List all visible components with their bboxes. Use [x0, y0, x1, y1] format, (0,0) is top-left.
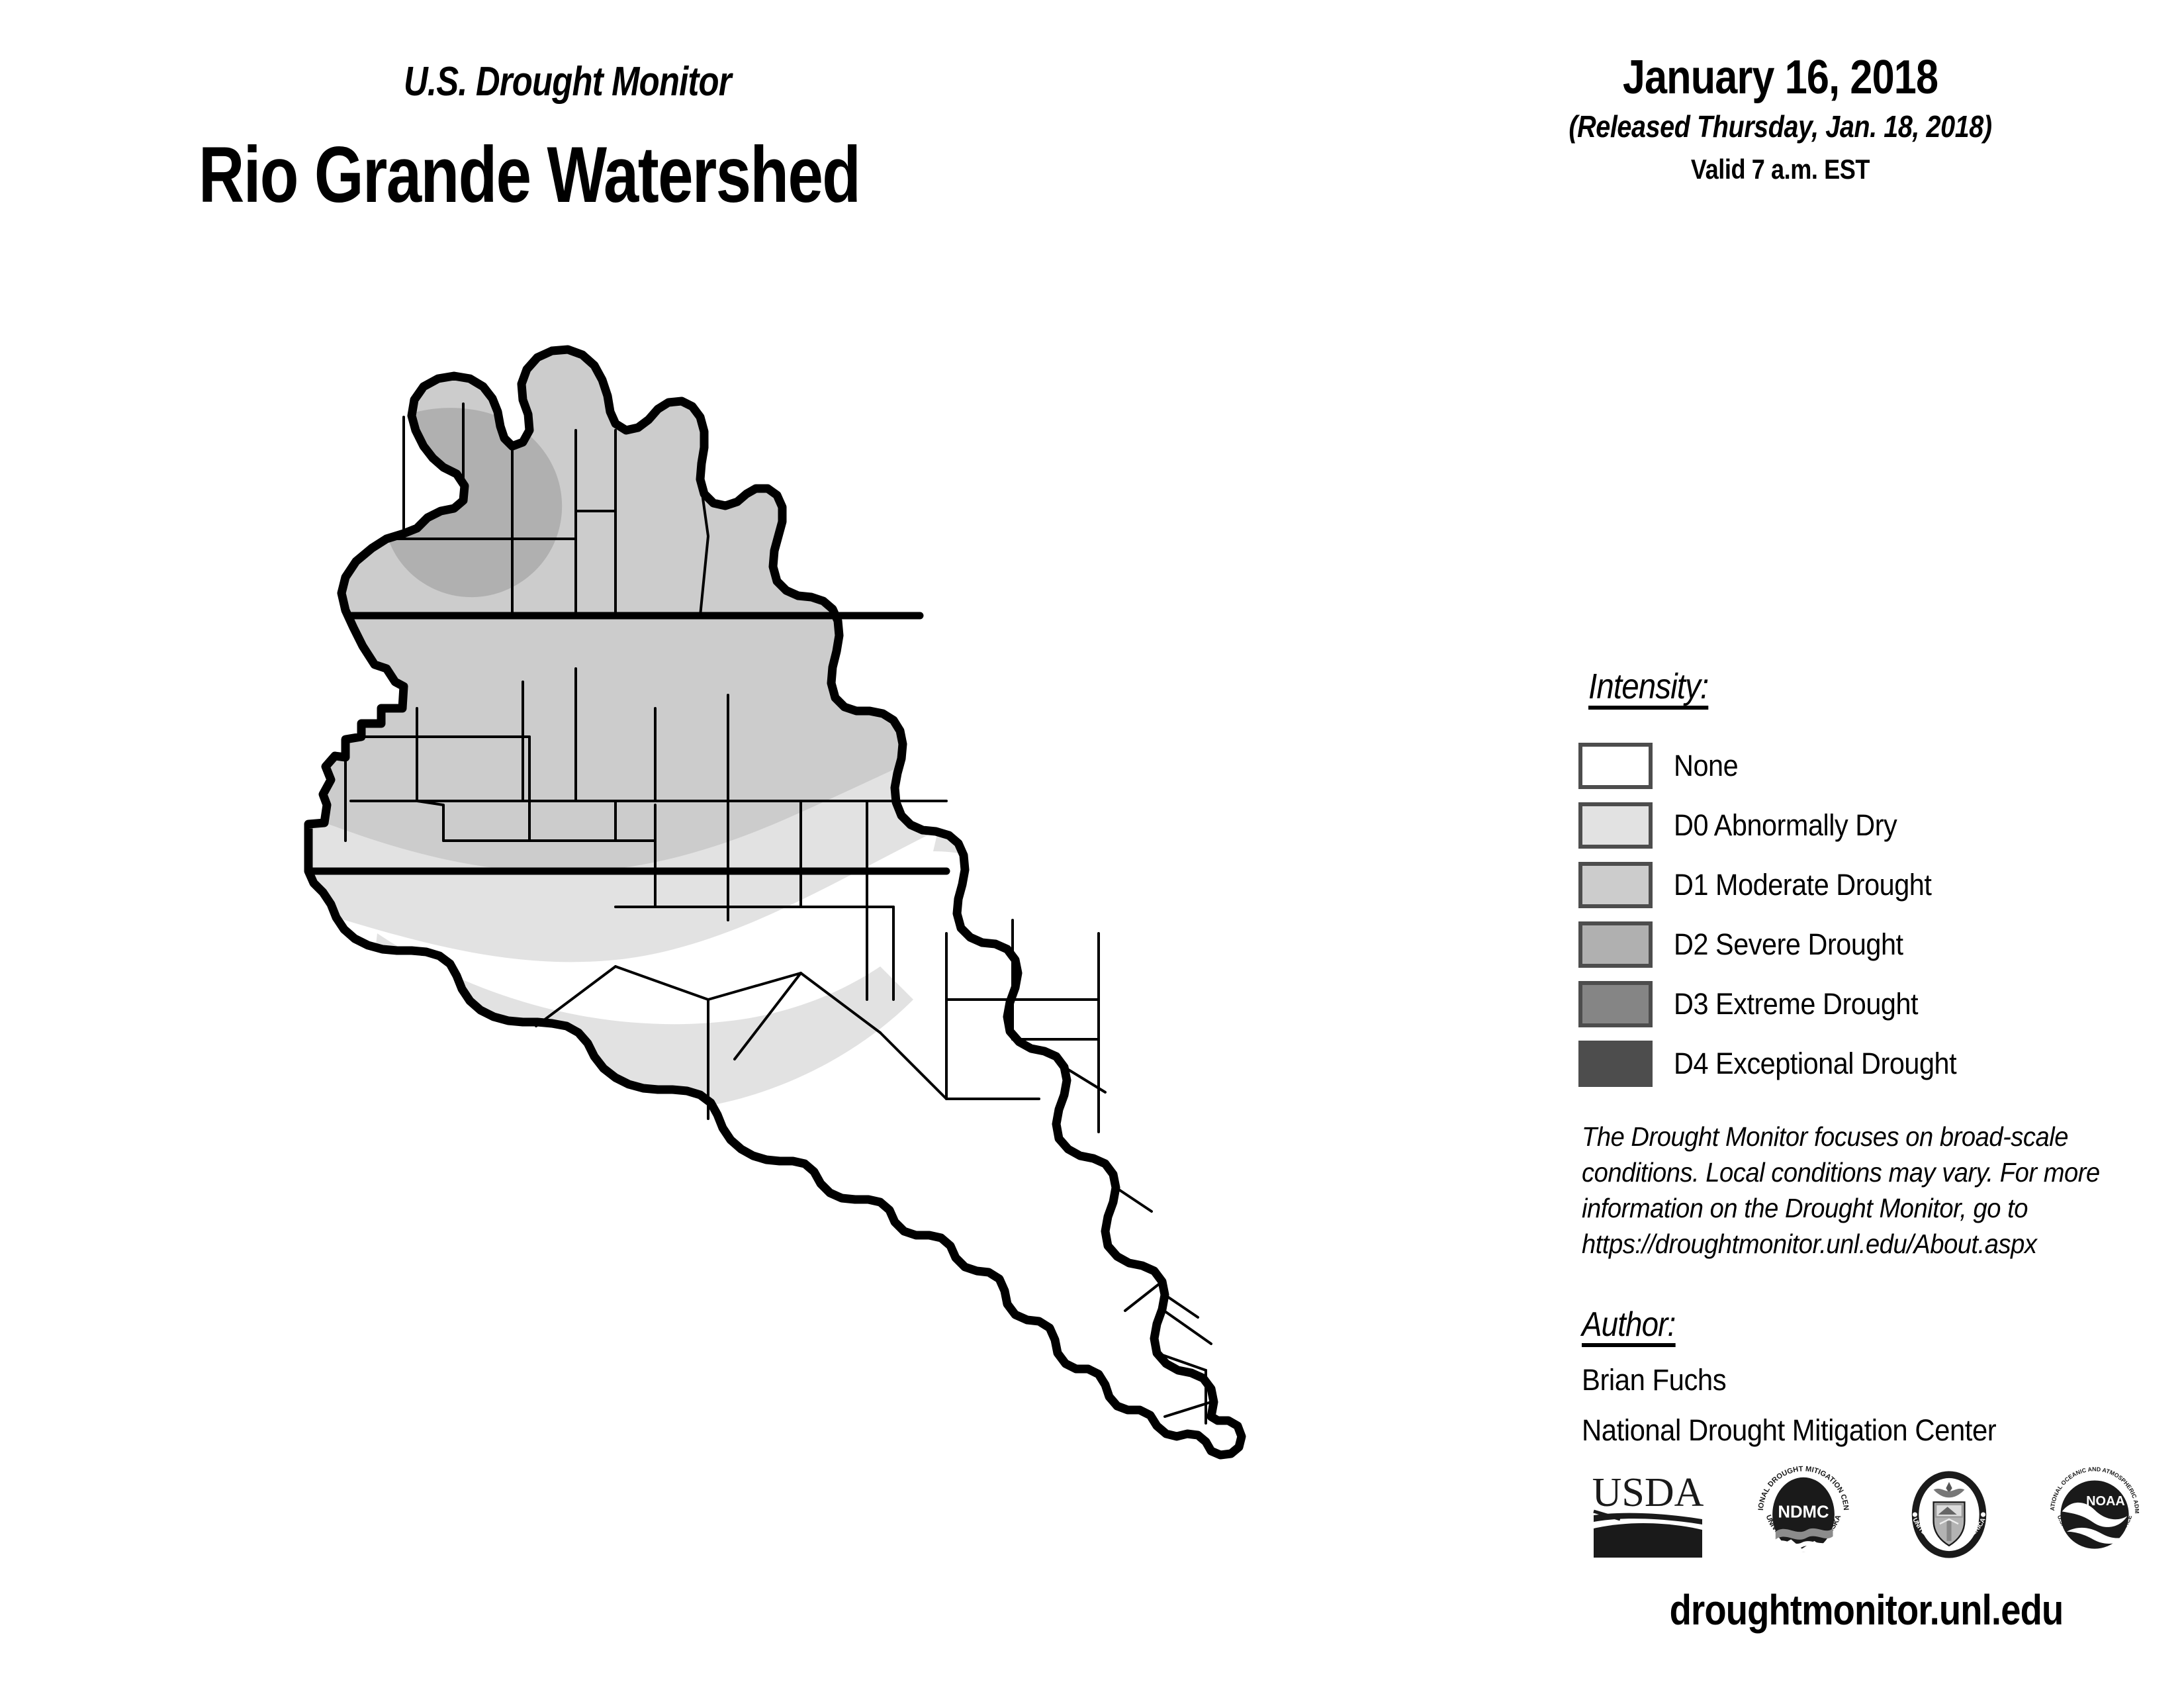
- released-date: (Released Thursday, Jan. 18, 2018): [1490, 109, 2070, 144]
- usda-logo-text: USDA: [1592, 1470, 1704, 1515]
- disclaimer-line-1: The Drought Monitor focuses on broad-sca…: [1582, 1119, 2148, 1154]
- legend-label-d3: D3 Extreme Drought: [1674, 987, 1918, 1021]
- agency-logos: USDA NATIONAL DROUGHT MITIGATION CENTER …: [1588, 1453, 2144, 1579]
- legend-item-none: None: [1578, 736, 2161, 796]
- valid-time: Valid 7 a.m. EST: [1490, 154, 2070, 185]
- doc-seal-logo: DEPARTMENT OF COMMERCE UNITED STATES OF …: [1899, 1465, 1999, 1568]
- legend-swatch-none: [1578, 743, 1653, 789]
- legend-item-d3: D3 Extreme Drought: [1578, 974, 2161, 1034]
- legend-heading: Intensity:: [1588, 669, 1708, 710]
- ndmc-logo-text: NDMC: [1778, 1503, 1829, 1521]
- author-heading: Author:: [1582, 1307, 1675, 1347]
- intensity-legend: Intensity: None D0 Abnormally Dry D1 Mod…: [1578, 669, 2161, 1094]
- legend-swatch-d0: [1578, 802, 1653, 849]
- legend-label-d1: D1 Moderate Drought: [1674, 868, 1931, 902]
- valid-date: January 16, 2018: [1494, 53, 2068, 103]
- noaa-logo: NATIONAL OCEANIC AND ATMOSPHERIC ADM. U.…: [2045, 1465, 2144, 1568]
- page-title: Rio Grande Watershed: [199, 129, 860, 220]
- disclaimer-line-3: information on the Drought Monitor, go t…: [1582, 1190, 2148, 1226]
- ndmc-logo: NATIONAL DROUGHT MITIGATION CENTER UNIVE…: [1754, 1465, 1853, 1568]
- drought-region-d1-east: [1002, 841, 1135, 1039]
- author-block: Author: Brian Fuchs National Drought Mit…: [1582, 1307, 2177, 1448]
- header-subtitle: U.S. Drought Monitor: [404, 58, 731, 105]
- legend-label-d4: D4 Exceptional Drought: [1674, 1047, 1956, 1081]
- noaa-logo-text: NOAA: [2086, 1493, 2125, 1508]
- legend-item-d0: D0 Abnormally Dry: [1578, 796, 2161, 855]
- legend-label-d2: D2 Severe Drought: [1674, 927, 1903, 962]
- rio-grande-watershed-drought-map: [245, 338, 1370, 1628]
- legend-item-d1: D1 Moderate Drought: [1578, 855, 2161, 915]
- disclaimer-link[interactable]: https://droughtmonitor.unl.edu/About.asp…: [1582, 1226, 2148, 1262]
- legend-swatch-d1: [1578, 862, 1653, 908]
- legend-swatch-d2: [1578, 921, 1653, 968]
- usda-logo: USDA: [1588, 1465, 1707, 1568]
- author-name: Brian Fuchs: [1582, 1363, 2136, 1397]
- legend-swatch-d4: [1578, 1041, 1653, 1087]
- footer-url[interactable]: droughtmonitor.unl.edu: [1619, 1585, 2114, 1634]
- legend-swatch-d3: [1578, 981, 1653, 1027]
- legend-item-d4: D4 Exceptional Drought: [1578, 1034, 2161, 1094]
- legend-item-d2: D2 Severe Drought: [1578, 915, 2161, 974]
- legend-label-d0: D0 Abnormally Dry: [1674, 808, 1897, 843]
- author-affiliation: National Drought Mitigation Center: [1582, 1413, 2136, 1448]
- date-block: January 16, 2018 (Released Thursday, Jan…: [1443, 53, 2118, 185]
- legend-items: None D0 Abnormally Dry D1 Moderate Droug…: [1578, 736, 2161, 1094]
- disclaimer-line-2: conditions. Local conditions may vary. F…: [1582, 1154, 2148, 1190]
- legend-label-none: None: [1674, 749, 1738, 783]
- disclaimer-text: The Drought Monitor focuses on broad-sca…: [1582, 1119, 2184, 1262]
